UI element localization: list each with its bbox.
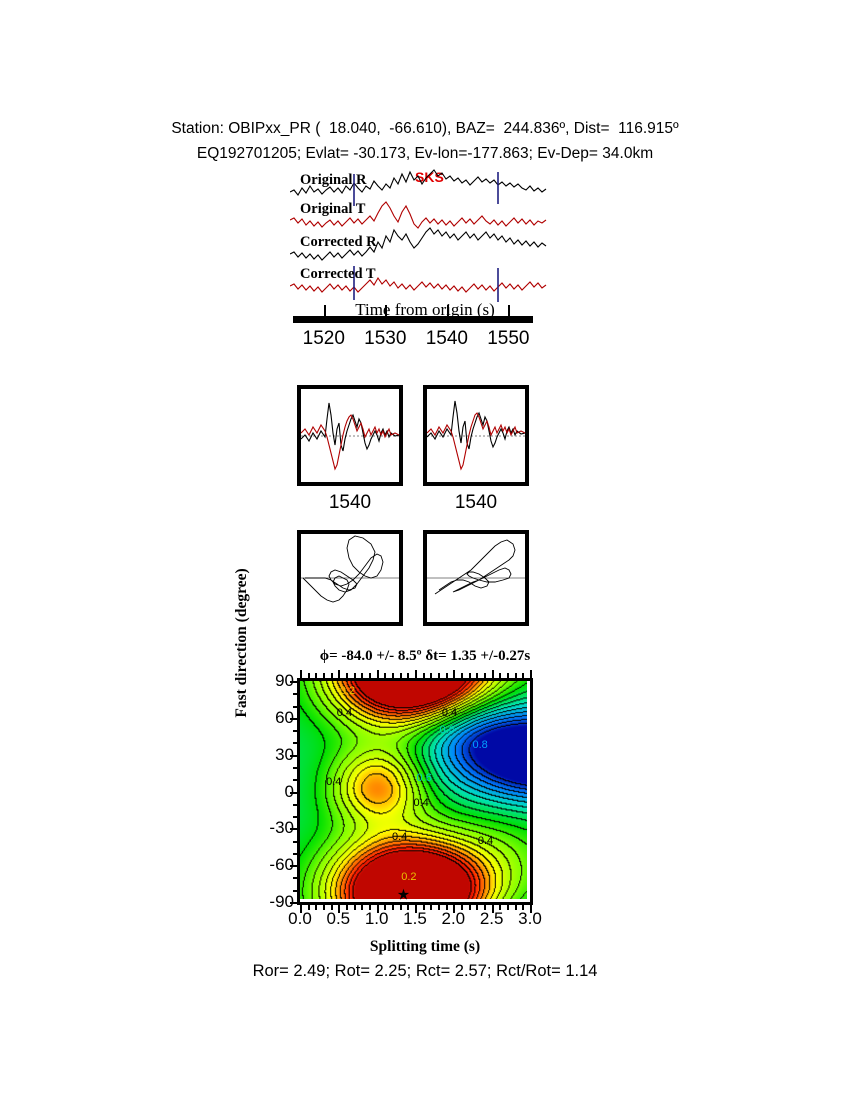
contour-x-minor-tick: [323, 905, 325, 910]
time-axis-tick: [324, 305, 326, 316]
time-axis-line: [293, 316, 533, 323]
quality-statistics-line: Ror= 2.49; Rot= 2.25; Rct= 2.57; Rct/Rot…: [0, 962, 850, 981]
contour-x-minor-tick: [400, 905, 402, 910]
time-axis-tick-label: 1540: [426, 328, 468, 350]
contour-y-tick-label: 60: [275, 708, 294, 728]
contour-x-minor-top-tick: [407, 673, 409, 678]
contour-x-tick-label: 2.0: [442, 909, 466, 929]
trace-label-original-t: Original T: [300, 201, 365, 218]
contour-y-minor-tick: [293, 730, 297, 732]
particle-path: [435, 540, 515, 594]
contour-x-top-tick: [338, 670, 340, 678]
contour-x-minor-top-tick: [438, 673, 440, 678]
contour-x-minor-top-tick: [315, 673, 317, 678]
time-axis-ticks: [293, 305, 533, 317]
particle-path: [303, 536, 383, 602]
contour-x-minor-top-tick: [423, 673, 425, 678]
contour-x-top-tick: [453, 670, 455, 678]
contour-x-minor-top-tick: [499, 673, 501, 678]
contour-level-label: 0.4: [478, 835, 493, 847]
contour-y-tick-label: -60: [269, 855, 294, 875]
contour-x-minor-tick: [354, 905, 356, 910]
contour-x-minor-tick: [469, 905, 471, 910]
trace-radial: [427, 401, 525, 449]
contour-y-minor-tick: [293, 804, 297, 806]
error-surface-canvas: [297, 678, 527, 899]
contour-level-label: 0.8: [473, 739, 488, 751]
contour-x-minor-top-tick: [354, 673, 356, 678]
contour-x-minor-tick: [476, 905, 478, 910]
corrected-window-tick-label: 1540: [423, 492, 529, 514]
corrected-waveform-window: [423, 385, 529, 486]
event-info-line: EQ192701205; Evlat= -30.173, Ev-lon=-177…: [0, 145, 850, 163]
contour-y-minor-tick: [293, 693, 297, 695]
contour-x-tick-label: 1.0: [365, 909, 389, 929]
contour-y-tick-label: 0: [285, 782, 294, 802]
uncorrected-waveform-window: [297, 385, 403, 486]
time-axis-tick: [385, 305, 387, 316]
contour-level-label: 0.4: [392, 831, 407, 843]
contour-x-minor-top-tick: [446, 673, 448, 678]
uncorrected-window-tick-label: 1540: [297, 492, 403, 514]
contour-level-label: 0.4: [337, 707, 352, 719]
contour-level-label: 0.4: [442, 707, 457, 719]
window-traces: [427, 389, 525, 482]
contour-x-minor-top-tick: [484, 673, 486, 678]
contour-x-minor-tick: [438, 905, 440, 910]
contour-x-tick-label: 1.5: [403, 909, 427, 929]
contour-x-minor-top-tick: [507, 673, 509, 678]
contour-x-minor-top-tick: [384, 673, 386, 678]
contour-x-minor-tick: [515, 905, 517, 910]
contour-x-top-tick: [300, 670, 302, 678]
contour-x-minor-top-tick: [323, 673, 325, 678]
time-axis-tick: [508, 305, 510, 316]
contour-x-axis-label: Splitting time (s): [0, 938, 850, 956]
contour-x-minor-top-tick: [461, 673, 463, 678]
contour-level-label: 0.6: [440, 724, 455, 736]
original-particle-motion: [297, 530, 403, 626]
station-info-line: Station: OBIPxx_PR ( 18.040, -66.610), B…: [0, 120, 850, 138]
trace-radial: [301, 403, 399, 451]
error-surface-plot: Fast direction (degree) 0.20.40.40.60.80…: [297, 678, 533, 905]
trace-label-corrected-r: Corrected R: [300, 234, 377, 251]
contour-y-axis-label: Fast direction (degree): [233, 553, 251, 733]
contour-x-top-tick: [377, 670, 379, 678]
contour-level-label: 0.4: [326, 776, 341, 788]
splitting-analysis-figure: Station: OBIPxx_PR ( 18.040, -66.610), B…: [0, 0, 850, 1100]
contour-x-minor-top-tick: [476, 673, 478, 678]
trace-label-corrected-t: Corrected T: [300, 266, 376, 283]
contour-level-label: 0.6: [417, 772, 432, 784]
contour-x-minor-top-tick: [308, 673, 310, 678]
contour-x-minor-top-tick: [361, 673, 363, 678]
contour-x-tick-label: 2.5: [480, 909, 504, 929]
contour-x-minor-tick: [315, 905, 317, 910]
hodogram-corrected: [427, 534, 525, 622]
contour-x-minor-top-tick: [369, 673, 371, 678]
contour-x-top-tick: [530, 670, 532, 678]
contour-x-tick-label: 0.0: [288, 909, 312, 929]
time-axis-tick-label: 1520: [303, 328, 345, 350]
contour-x-minor-top-tick: [392, 673, 394, 678]
contour-level-label: 0.4: [413, 797, 428, 809]
time-axis-tick-labels: 1520153015401550: [293, 328, 533, 354]
contour-level-label: 0.2: [401, 871, 416, 883]
contour-x-minor-top-tick: [400, 673, 402, 678]
contour-y-tick-label: 30: [275, 745, 294, 765]
contour-x-minor-top-tick: [430, 673, 432, 678]
contour-y-minor-tick: [293, 767, 297, 769]
contour-frame: 0.20.40.40.60.80.40.60.40.40.40.2★: [297, 678, 533, 905]
best-fit-star-marker: ★: [397, 887, 410, 902]
contour-y-tick-label: 90: [275, 671, 294, 691]
contour-x-tick-label: 3.0: [518, 909, 542, 929]
contour-x-minor-tick: [361, 905, 363, 910]
hodogram-original: [301, 534, 399, 622]
contour-x-top-tick: [492, 670, 494, 678]
contour-level-label: 0.2: [340, 685, 355, 697]
contour-x-minor-top-tick: [515, 673, 517, 678]
contour-x-minor-tick: [392, 905, 394, 910]
time-axis-tick: [447, 305, 449, 316]
window-traces: [301, 389, 399, 482]
contour-x-minor-top-tick: [331, 673, 333, 678]
contour-x-minor-tick: [507, 905, 509, 910]
contour-x-minor-tick: [430, 905, 432, 910]
contour-x-top-tick: [415, 670, 417, 678]
time-axis-tick-label: 1530: [364, 328, 406, 350]
contour-y-minor-tick: [293, 877, 297, 879]
contour-x-minor-top-tick: [346, 673, 348, 678]
time-axis-tick-label: 1550: [487, 328, 529, 350]
contour-title: ϕ= -84.0 +/- 8.5º δt= 1.35 +/-0.27s: [0, 648, 850, 665]
contour-y-tick-label: -30: [269, 818, 294, 838]
contour-x-minor-top-tick: [469, 673, 471, 678]
trace-label-original-r: Original R: [300, 172, 366, 189]
contour-x-tick-label: 0.5: [327, 909, 351, 929]
corrected-particle-motion: [423, 530, 529, 626]
contour-x-minor-top-tick: [522, 673, 524, 678]
contour-y-minor-tick: [293, 841, 297, 843]
